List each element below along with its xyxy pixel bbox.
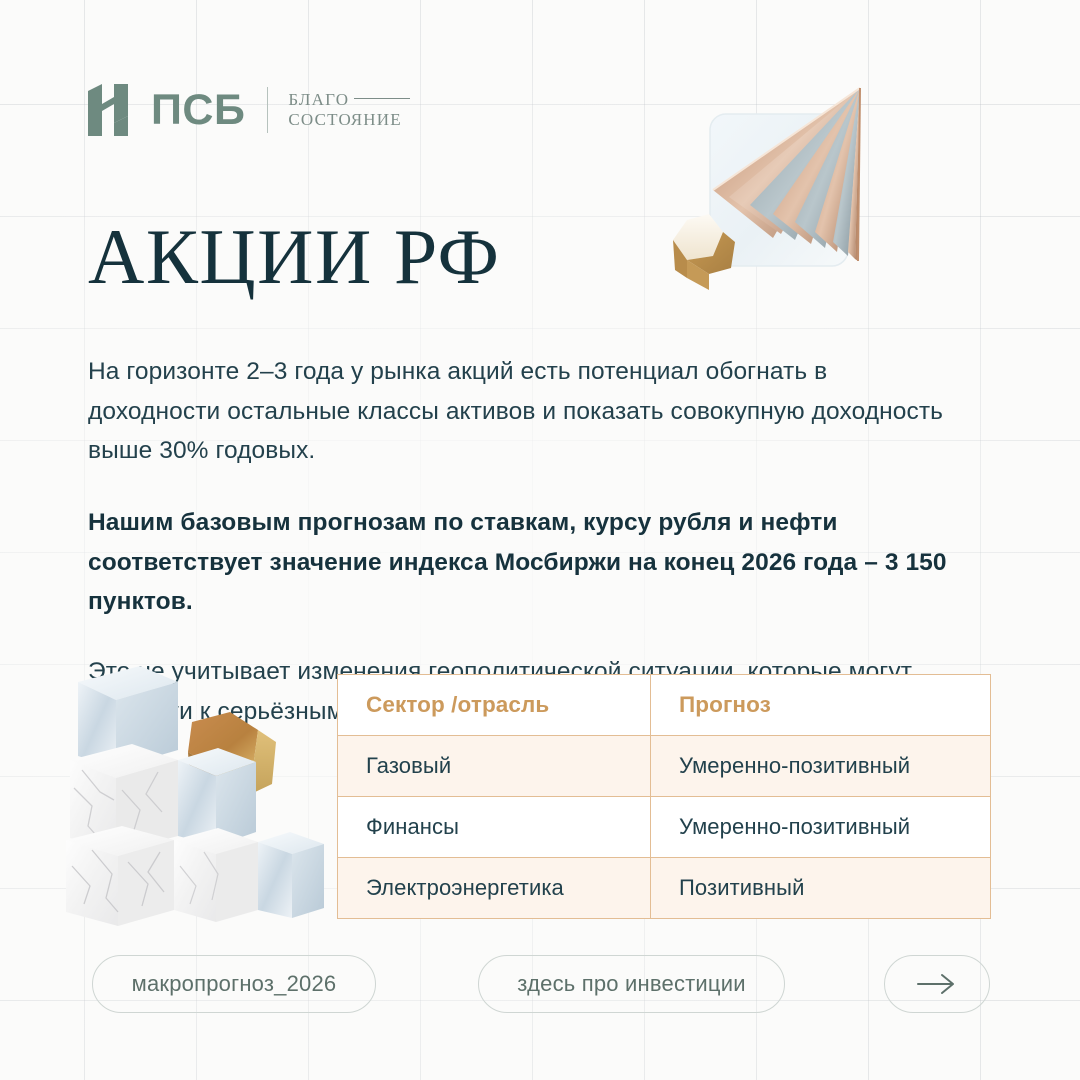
next-slide-button[interactable] — [884, 955, 990, 1013]
brand-subtitle-line1: БЛАГО — [288, 90, 349, 110]
cell-sector: Газовый — [338, 736, 651, 797]
table-row: Финансы Умеренно-позитивный — [338, 797, 991, 858]
tag-investments-label: здесь про инвестиции — [517, 971, 745, 997]
hero-illustration — [655, 62, 915, 317]
brand-subtitle: БЛАГО СОСТОЯНИЕ — [288, 90, 410, 129]
table-row: Газовый Умеренно-позитивный — [338, 736, 991, 797]
arrow-right-icon — [916, 973, 958, 995]
table-header-row: Сектор /отрасль Прогноз — [338, 675, 991, 736]
paragraph-2-bold: Нашим базовым прогнозам по ставкам, курс… — [88, 503, 966, 622]
brand-name: ПСБ — [151, 89, 245, 132]
psb-logo-mark-icon — [88, 84, 135, 136]
cell-forecast: Умеренно-позитивный — [651, 736, 991, 797]
table-header-forecast: Прогноз — [651, 675, 991, 736]
table-header-sector: Сектор /отрасль — [338, 675, 651, 736]
page-title: АКЦИИ РФ — [88, 218, 501, 296]
tag-macroforecast-button[interactable]: макропрогноз_2026 — [92, 955, 376, 1013]
cell-forecast: Позитивный — [651, 858, 991, 919]
forecast-table: Сектор /отрасль Прогноз Газовый Умеренно… — [337, 674, 991, 919]
cell-forecast: Умеренно-позитивный — [651, 797, 991, 858]
brand-logo: ПСБ БЛАГО СОСТОЯНИЕ — [88, 84, 410, 136]
tag-macroforecast-label: макропрогноз_2026 — [132, 971, 337, 997]
cell-sector: Финансы — [338, 797, 651, 858]
paragraph-1: На горизонте 2–3 года у рынка акций есть… — [88, 352, 966, 471]
logo-divider — [267, 87, 268, 133]
marble-cube-bottom-left — [66, 826, 174, 926]
brand-subtitle-rule — [354, 98, 410, 99]
brand-subtitle-line2: СОСТОЯНИЕ — [288, 110, 410, 130]
cubes-illustration — [62, 660, 332, 935]
bottom-actions: макропрогноз_2026 здесь про инвестиции — [0, 955, 1080, 1013]
slide-root: ПСБ БЛАГО СОСТОЯНИЕ АКЦИИ РФ — [0, 0, 1080, 1080]
cell-sector: Электроэнергетика — [338, 858, 651, 919]
table-row: Электроэнергетика Позитивный — [338, 858, 991, 919]
tag-investments-button[interactable]: здесь про инвестиции — [478, 955, 785, 1013]
marble-cube-bottom-middle — [174, 828, 258, 922]
glass-cube-bottom-right — [258, 832, 324, 918]
